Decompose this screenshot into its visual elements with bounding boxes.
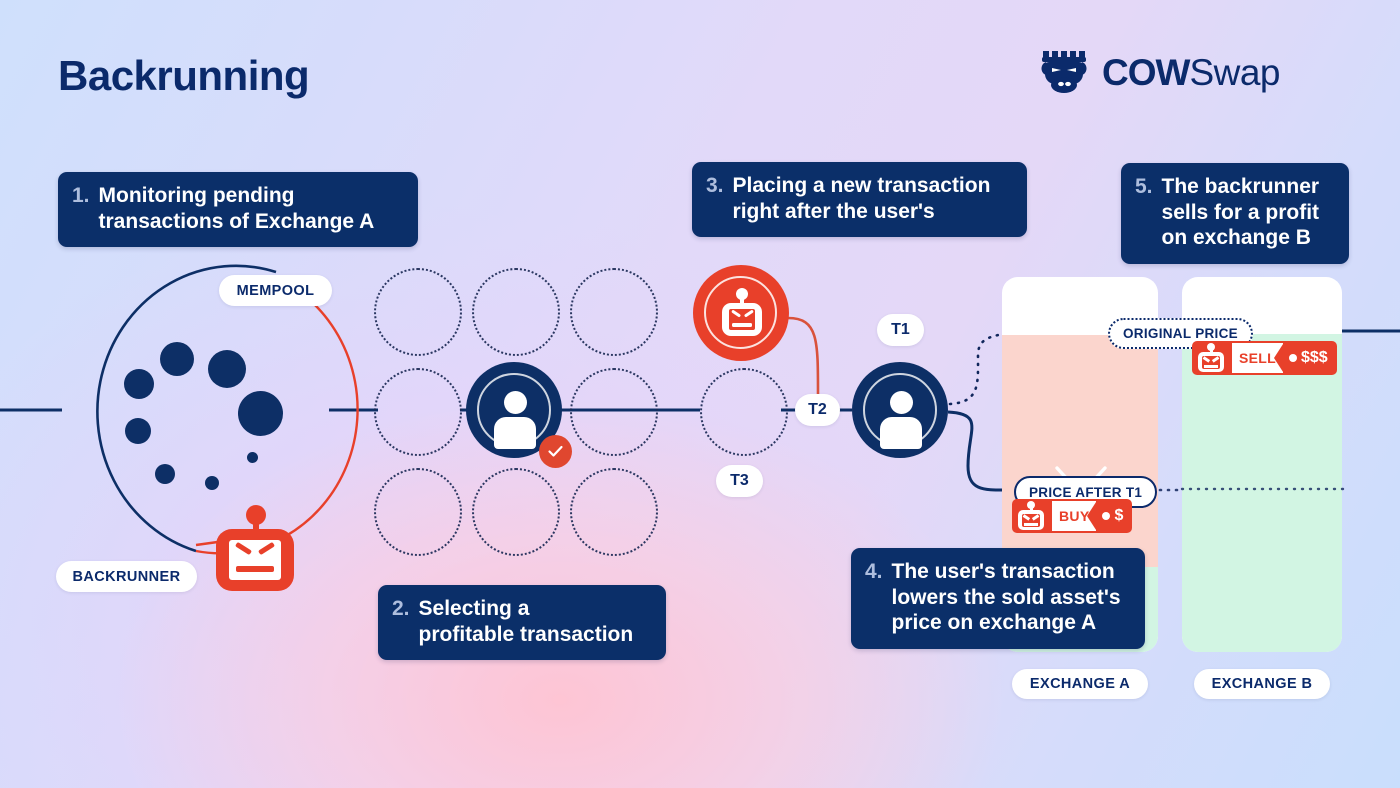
- step-text: The user's transaction lowers the sold a…: [892, 559, 1121, 636]
- step-text: Placing a new transaction right after th…: [733, 173, 991, 224]
- backrunner-robot-icon: [216, 505, 296, 583]
- exchange-a-label: EXCHANGE A: [1012, 669, 1148, 699]
- pending-tx-dot: [205, 476, 219, 490]
- tag-shape: $: [1098, 499, 1132, 533]
- mempool-label: MEMPOOL: [219, 275, 332, 306]
- step-text: The backrunner sells for a profit on exc…: [1162, 174, 1320, 251]
- step-text: Selecting a profitable transaction: [419, 596, 634, 647]
- pending-tx-dot: [208, 350, 246, 388]
- trade-price-tag: $$$: [1285, 341, 1337, 375]
- step-text: Monitoring pending transactions of Excha…: [99, 183, 375, 234]
- tag-notch: [1274, 341, 1285, 375]
- pending-tx-dot: [247, 452, 258, 463]
- tag-shape: $$$: [1285, 341, 1337, 375]
- step-number: 4.: [865, 559, 883, 585]
- empty-slot: [374, 468, 462, 556]
- exchange-b-label: EXCHANGE B: [1194, 669, 1330, 699]
- step-callout-4: 4. The user's transaction lowers the sol…: [851, 548, 1145, 649]
- pending-tx-dot: [124, 369, 154, 399]
- trade-price-label: $$$: [1301, 349, 1328, 367]
- pending-tx-dot: [155, 464, 175, 484]
- step-number: 3.: [706, 173, 724, 199]
- step-number: 1.: [72, 183, 90, 209]
- step-number: 2.: [392, 596, 410, 622]
- step-callout-2: 2. Selecting a profitable transaction: [378, 585, 666, 660]
- step-callout-5: 5. The backrunner sells for a profit on …: [1121, 163, 1349, 264]
- cowswap-logo: COWSwap: [1040, 48, 1280, 96]
- selected-check-badge: [539, 435, 572, 468]
- trade-price-tag: $: [1098, 499, 1132, 533]
- empty-slot: [472, 268, 560, 356]
- brand-cow: COW: [1102, 52, 1189, 93]
- empty-slot: [570, 268, 658, 356]
- empty-slot: [374, 268, 462, 356]
- user-transaction-node: [852, 362, 948, 458]
- empty-slot: [374, 368, 462, 456]
- tag-hole: [1289, 354, 1297, 362]
- step-callout-1: 1. Monitoring pending transactions of Ex…: [58, 172, 418, 247]
- robot-icon: [1012, 499, 1050, 533]
- page-title: Backrunning: [58, 52, 309, 100]
- diagram-canvas: Backrunning COWSwap 1. Monitoring pendin…: [0, 0, 1400, 788]
- sell-trade-tag: SELL $$$: [1192, 341, 1337, 375]
- pending-tx-dot: [160, 342, 194, 376]
- empty-slot: [570, 468, 658, 556]
- empty-slot: [570, 368, 658, 456]
- pending-tx-dot: [125, 418, 151, 444]
- step-callout-3: 3. Placing a new transaction right after…: [692, 162, 1027, 237]
- brand-wordmark: COWSwap: [1102, 54, 1280, 91]
- tag-notch: [1087, 499, 1098, 533]
- tx-label-t2: T2: [795, 394, 840, 426]
- check-icon: [546, 442, 565, 461]
- empty-slot-t3: [700, 368, 788, 456]
- pending-tx-dot: [238, 391, 283, 436]
- exchange-b-price-band: [1182, 334, 1342, 652]
- empty-slot: [472, 468, 560, 556]
- tag-hole: [1102, 512, 1110, 520]
- backrunner-transaction-node: [693, 265, 789, 361]
- robot-icon: [1192, 341, 1230, 375]
- tx-label-t1: T1: [877, 314, 924, 346]
- cow-head-icon: [1040, 48, 1092, 96]
- brand-swap: Swap: [1189, 52, 1280, 93]
- step-number: 5.: [1135, 174, 1153, 200]
- backrunner-label: BACKRUNNER: [56, 561, 197, 592]
- buy-trade-tag: BUY $: [1012, 499, 1132, 533]
- trade-price-label: $: [1114, 507, 1123, 525]
- tx-label-t3: T3: [716, 465, 763, 497]
